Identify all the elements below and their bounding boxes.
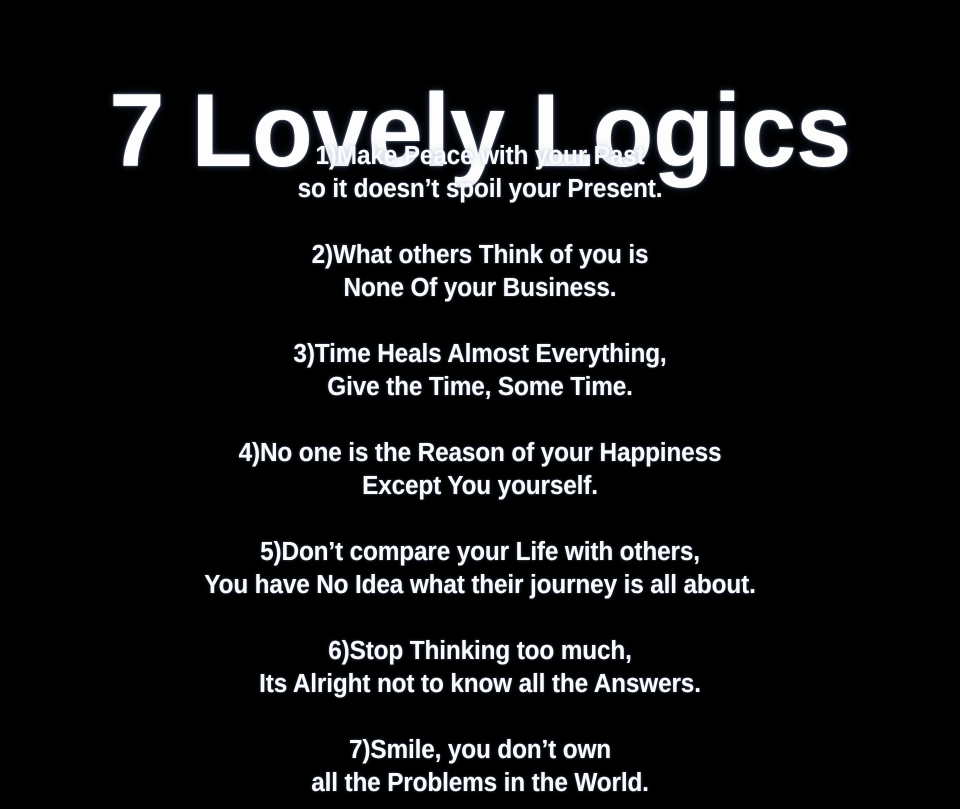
logic-line: 7)Smile, you don’t own [22,734,939,767]
list-item: 1)Make Peace with your Past so it doesn’… [0,140,960,206]
list-item: 4)No one is the Reason of your Happiness… [0,437,960,503]
list-item: 3)Time Heals Almost Everything, Give the… [0,338,960,404]
logic-line: 2)What others Think of you is [22,239,939,272]
logic-line: 3)Time Heals Almost Everything, [22,338,939,371]
list-item: 5)Don’t compare your Life with others, Y… [0,536,960,602]
logic-list: 1)Make Peace with your Past so it doesn’… [0,140,960,800]
list-item: 6)Stop Thinking too much, Its Alright no… [0,635,960,701]
logic-line: so it doesn’t spoil your Present. [22,173,939,206]
logic-line: 4)No one is the Reason of your Happiness [22,437,939,470]
logic-line: 6)Stop Thinking too much, [22,635,939,668]
list-item: 2)What others Think of you is None Of yo… [0,239,960,305]
poster-canvas: 7 Lovely Logics 1)Make Peace with your P… [0,0,960,809]
logic-line: Give the Time, Some Time. [22,371,939,404]
logic-line: Its Alright not to know all the Answers. [22,668,939,701]
logic-line: 5)Don’t compare your Life with others, [22,536,939,569]
list-item: 7)Smile, you don’t own all the Problems … [0,734,960,800]
logic-line: Except You yourself. [22,470,939,503]
logic-line: 1)Make Peace with your Past [22,140,939,173]
logic-line: all the Problems in the World. [22,767,939,800]
logic-line: None Of your Business. [22,272,939,305]
logic-line: You have No Idea what their journey is a… [22,569,939,602]
